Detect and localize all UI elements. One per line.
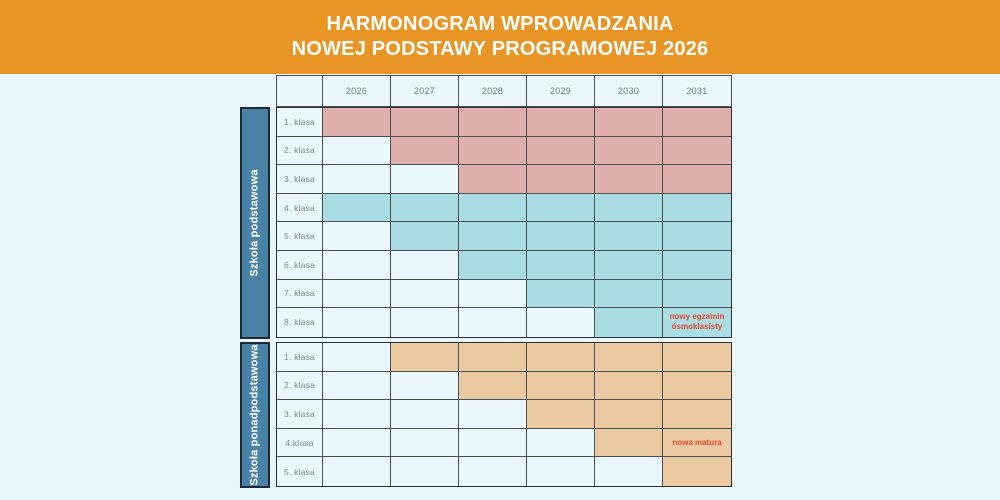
grid-cell — [391, 165, 459, 194]
stage-label-text: Szkoła ponadpodstawowa — [249, 344, 261, 485]
grid-cell — [595, 280, 663, 309]
grid-cell — [391, 251, 459, 280]
row-label: 2. klasa — [277, 137, 323, 166]
table-row: 5. klasa — [277, 457, 731, 486]
grid-cell — [459, 165, 527, 194]
grid-cell — [527, 372, 595, 401]
grid-cell — [663, 251, 731, 280]
row-label: 3. klasa — [277, 165, 323, 194]
header-corner-cell — [277, 76, 323, 106]
table-row: 3. klasa — [277, 165, 731, 194]
grid-cell — [663, 165, 731, 194]
grid-cell — [595, 429, 663, 458]
grid-cell — [595, 308, 663, 337]
grid-cell — [527, 137, 595, 166]
table-row: 1. klasa — [277, 108, 731, 137]
grid-cell — [391, 343, 459, 372]
grid-cell — [595, 343, 663, 372]
grid-cell — [459, 343, 527, 372]
cell-annotation: nowy egzamin ósmoklasisty — [663, 312, 731, 332]
grid-cell — [391, 400, 459, 429]
grid-cell — [391, 372, 459, 401]
grid-cell — [595, 372, 663, 401]
banner-title-line-1: HARMONOGRAM WPROWADZANIA — [327, 12, 674, 37]
grid-cell — [663, 222, 731, 251]
grid-cell — [323, 372, 391, 401]
table-row: 2. klasa — [277, 137, 731, 166]
grid-cell — [663, 457, 731, 486]
grid-cell — [663, 400, 731, 429]
grid-cell — [663, 137, 731, 166]
grid-cell — [595, 137, 663, 166]
grid-cell — [663, 372, 731, 401]
grid-cell — [663, 343, 731, 372]
grid-cell — [595, 108, 663, 137]
grid-cell — [323, 194, 391, 223]
grid-cell — [459, 280, 527, 309]
row-label: 3. klasa — [277, 400, 323, 429]
table-row: 4. klasa — [277, 194, 731, 223]
grid-cell — [595, 400, 663, 429]
grid-cell — [527, 251, 595, 280]
grid-cell — [391, 429, 459, 458]
grid-cell — [323, 343, 391, 372]
year-header-2029: 2029 — [527, 76, 595, 106]
grid-cell — [595, 194, 663, 223]
grid-cell — [663, 194, 731, 223]
table-row: 7. klasa — [277, 280, 731, 309]
grid-cell — [663, 280, 731, 309]
grid-cell — [527, 343, 595, 372]
grid-primary: 1. klasa2. klasa3. klasa4. klasa5. klasa… — [276, 107, 732, 338]
grid-cell — [391, 457, 459, 486]
row-label: 1. klasa — [277, 108, 323, 137]
grid-cell — [459, 457, 527, 486]
grid-cell — [391, 108, 459, 137]
cell-annotation: nowa matura — [670, 438, 723, 448]
timetable-chart: 202620272028202920302031 Szkoła podstawo… — [240, 74, 740, 500]
grid-cell — [391, 137, 459, 166]
grid-cell — [391, 194, 459, 223]
row-label: 5. klasa — [277, 222, 323, 251]
grid-cell — [459, 372, 527, 401]
banner-title-line-2: NOWEJ PODSTAWY PROGRAMOWEJ 2026 — [292, 37, 709, 62]
header-banner: HARMONOGRAM WPROWADZANIA NOWEJ PODSTAWY … — [0, 0, 1000, 74]
grid-cell — [527, 165, 595, 194]
grid-cell — [595, 251, 663, 280]
grid-cell — [459, 400, 527, 429]
grid-cell: nowy egzamin ósmoklasisty — [663, 308, 731, 337]
grid-cell — [391, 222, 459, 251]
year-header-2028: 2028 — [459, 76, 527, 106]
grid-cell — [527, 429, 595, 458]
table-row: 4.klasanowa matura — [277, 429, 731, 458]
grid-cell — [527, 308, 595, 337]
year-header-2026: 2026 — [323, 76, 391, 106]
stage-label-secondary: Szkoła ponadpodstawowa — [240, 342, 270, 488]
grid-cell — [663, 108, 731, 137]
grid-cell — [459, 429, 527, 458]
row-label: 5. klasa — [277, 457, 323, 486]
grid-cell — [323, 457, 391, 486]
grid-cell — [323, 429, 391, 458]
row-label: 4.klasa — [277, 429, 323, 458]
grid-cell — [527, 280, 595, 309]
grid-cell — [459, 137, 527, 166]
grid-cell — [527, 222, 595, 251]
grid-cell — [323, 137, 391, 166]
table-row: 6. klasa — [277, 251, 731, 280]
grid-cell — [323, 280, 391, 309]
stage-label-text: Szkoła podstawowa — [249, 169, 261, 276]
year-header-row: 202620272028202920302031 — [276, 75, 732, 107]
grid-cell — [595, 222, 663, 251]
grid-cell — [323, 108, 391, 137]
stage-label-primary: Szkoła podstawowa — [240, 107, 270, 339]
table-row: 8. klasanowy egzamin ósmoklasisty — [277, 308, 731, 337]
grid-cell — [595, 165, 663, 194]
grid-cell — [323, 251, 391, 280]
row-label: 1. klasa — [277, 343, 323, 372]
grid-cell — [527, 400, 595, 429]
grid-cell — [459, 194, 527, 223]
grid-cell — [391, 308, 459, 337]
row-label: 2. klasa — [277, 372, 323, 401]
grid-cell — [323, 165, 391, 194]
table-row: 1. klasa — [277, 343, 731, 372]
table-row: 2. klasa — [277, 372, 731, 401]
grid-cell — [323, 222, 391, 251]
year-header-2030: 2030 — [595, 76, 663, 106]
grid-cell — [527, 457, 595, 486]
grid-cell — [595, 457, 663, 486]
row-label: 6. klasa — [277, 251, 323, 280]
year-header-2031: 2031 — [663, 76, 731, 106]
row-label: 7. klasa — [277, 280, 323, 309]
grid-cell — [323, 308, 391, 337]
grid-secondary: 1. klasa2. klasa3. klasa4.klasanowa matu… — [276, 342, 732, 487]
grid-cell — [527, 108, 595, 137]
grid-cell — [459, 108, 527, 137]
row-label: 4. klasa — [277, 194, 323, 223]
grid-cell — [459, 222, 527, 251]
grid-cell — [391, 280, 459, 309]
row-label: 8. klasa — [277, 308, 323, 337]
grid-cell — [459, 251, 527, 280]
table-row: 5. klasa — [277, 222, 731, 251]
year-header-2027: 2027 — [391, 76, 459, 106]
grid-cell — [459, 308, 527, 337]
grid-cell — [527, 194, 595, 223]
grid-cell: nowa matura — [663, 429, 731, 458]
table-row: 3. klasa — [277, 400, 731, 429]
grid-cell — [323, 400, 391, 429]
